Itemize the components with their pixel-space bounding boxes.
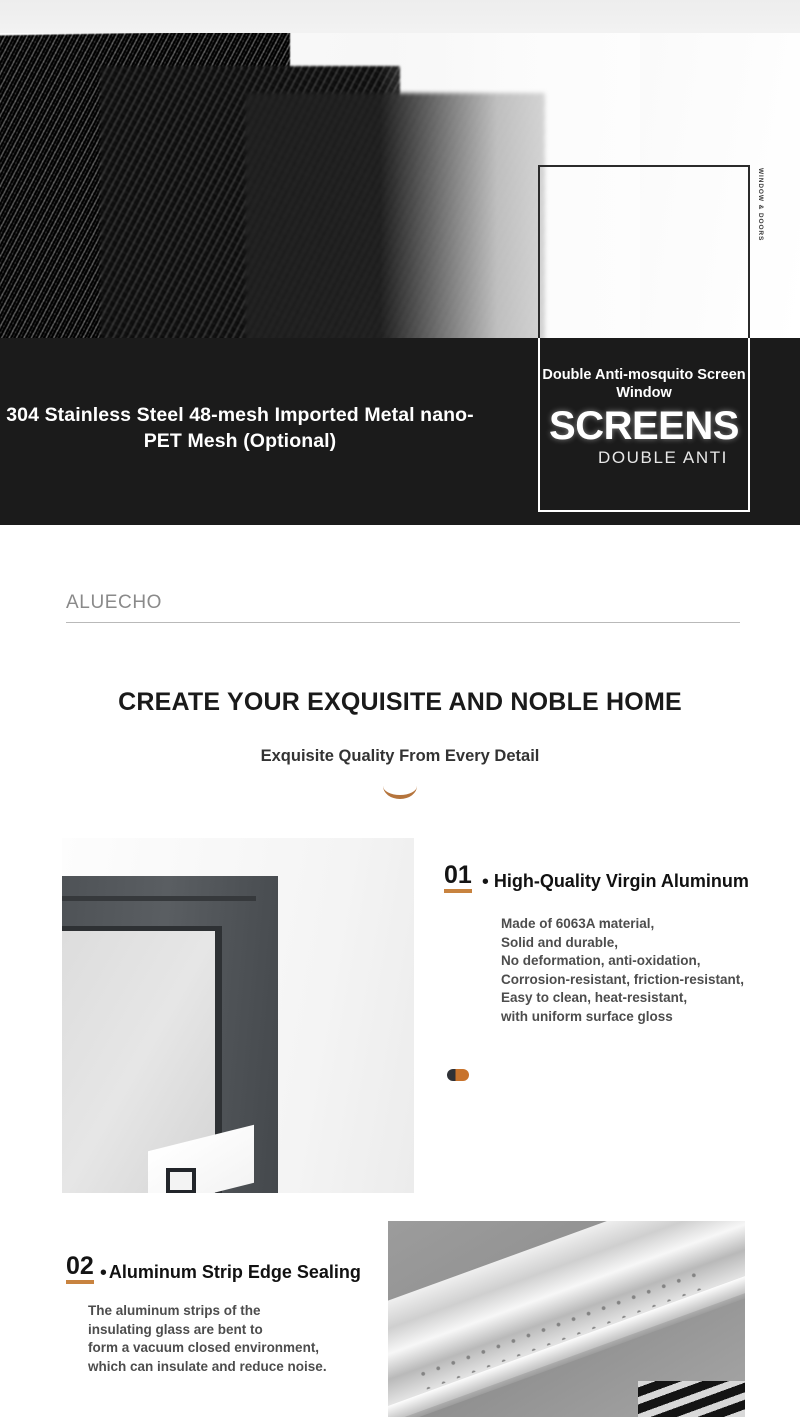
feature-02-number: 02: [66, 1253, 94, 1284]
vertical-window-doors-label: WINDOW & DOORS: [757, 168, 764, 241]
feature-01-bullet-icon: •: [472, 871, 494, 893]
page-title: CREATE YOUR EXQUISITE AND NOBLE HOME: [0, 688, 800, 717]
feature-01-title: High-Quality Virgin Aluminum: [494, 869, 749, 893]
accent-pill-icon: [447, 1069, 469, 1081]
feature-01-title-row: 01 • High-Quality Virgin Aluminum: [444, 862, 794, 893]
curve-ornament-icon: [383, 786, 417, 799]
feature-02-text: 02 • Aluminum Strip Edge Sealing The alu…: [66, 1253, 396, 1376]
logo-content: Double Anti-mosquito Screen Window SCREE…: [540, 366, 748, 468]
feature-02-photo: [388, 1221, 745, 1417]
feature-01-text: 01 • High-Quality Virgin Aluminum Made o…: [444, 862, 794, 1027]
brand-divider: [66, 622, 740, 623]
feature-02-title-row: 02 • Aluminum Strip Edge Sealing: [66, 1253, 396, 1284]
logo-tagline: Double Anti-mosquito Screen Window: [540, 366, 748, 402]
feature-02-body: The aluminum strips of the insulating gl…: [88, 1302, 396, 1376]
hero-top-strip: [0, 0, 800, 33]
window-frame-groove: [62, 896, 256, 901]
hero-caption: 304 Stainless Steel 48-mesh Imported Met…: [0, 402, 480, 454]
feature-01-photo: [62, 838, 414, 1193]
page-subtitle: Exquisite Quality From Every Detail: [0, 747, 800, 766]
logo-wordmark: SCREENS: [540, 404, 748, 448]
brand-name: ALUECHO: [66, 592, 740, 622]
feature-01-number: 01: [444, 862, 472, 893]
feature-02-title: Aluminum Strip Edge Sealing: [109, 1260, 361, 1284]
feature-02-bullet-icon: •: [94, 1262, 109, 1284]
aluminum-strip-shadow: [638, 1381, 745, 1417]
window-handle-icon: [166, 1168, 196, 1193]
hero-banner: 304 Stainless Steel 48-mesh Imported Met…: [0, 0, 800, 525]
section-heading-group: CREATE YOUR EXQUISITE AND NOBLE HOME Exq…: [0, 688, 800, 799]
logo-subtitle: DOUBLE ANTI: [540, 448, 748, 468]
feature-01-body: Made of 6063A material, Solid and durabl…: [501, 915, 794, 1027]
brand-bar: ALUECHO: [66, 592, 740, 623]
logo-box-lower-border: Double Anti-mosquito Screen Window SCREE…: [538, 338, 750, 512]
